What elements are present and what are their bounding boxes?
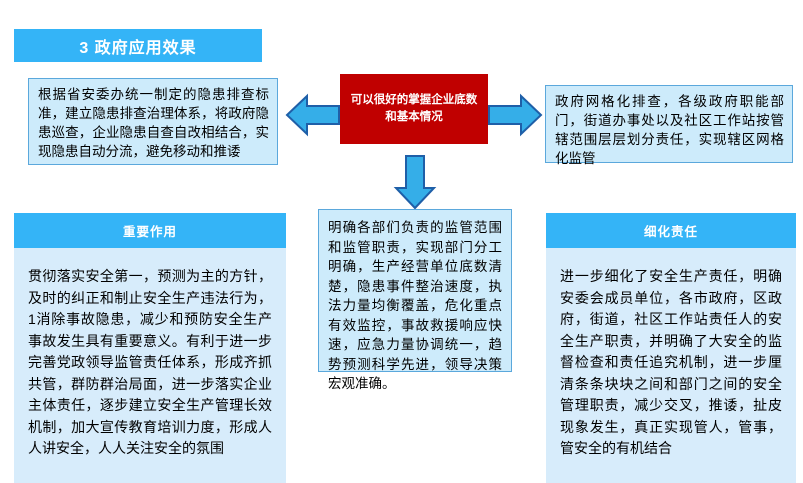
panel-important-role: 重要作用 贯彻落实安全第一，预测为主的方针，及时的纠正和制止安全生产违法行为，1… <box>14 213 286 483</box>
arrow-right-icon <box>487 90 543 140</box>
slide-canvas: 3 政府应用效果 根据省安委办统一制定的隐患排查标准，建立隐患排查治理体系，将政… <box>0 0 803 483</box>
info-box-supervision-scope: 明确各部们负责的监管范围和监管职责，实现部门分工明确，生产经营单位底数清楚，隐患… <box>318 209 512 372</box>
arrow-left-icon <box>285 90 341 140</box>
panel-header-important-role: 重要作用 <box>14 213 286 248</box>
arrow-down-icon <box>390 154 440 210</box>
panel-body-important-role: 贯彻落实安全第一，预测为主的方针，及时的纠正和制止安全生产违法行为，1消除事故隐… <box>14 248 286 483</box>
center-highlight-box: 可以很好的掌握企业底数和基本情况 <box>340 74 488 144</box>
info-box-government-inspection: 根据省安委办统一制定的隐患排查标准，建立隐患排查治理体系，将政府隐患巡查，企业隐… <box>28 78 278 165</box>
page-title: 3 政府应用效果 <box>14 29 262 62</box>
panel-refine-responsibility: 细化责任 进一步细化了安全生产责任，明确安委会成员单位，各市政府，区政府，街道，… <box>546 213 796 483</box>
panel-header-refine-responsibility: 细化责任 <box>546 213 796 248</box>
info-box-grid-management: 政府网格化排查，各级政府职能部门，街道办事处以及社区工作站按管辖范围层层划分责任… <box>545 85 793 163</box>
panel-body-refine-responsibility: 进一步细化了安全生产责任，明确安委会成员单位，各市政府，区政府，街道，社区工作站… <box>546 248 796 483</box>
